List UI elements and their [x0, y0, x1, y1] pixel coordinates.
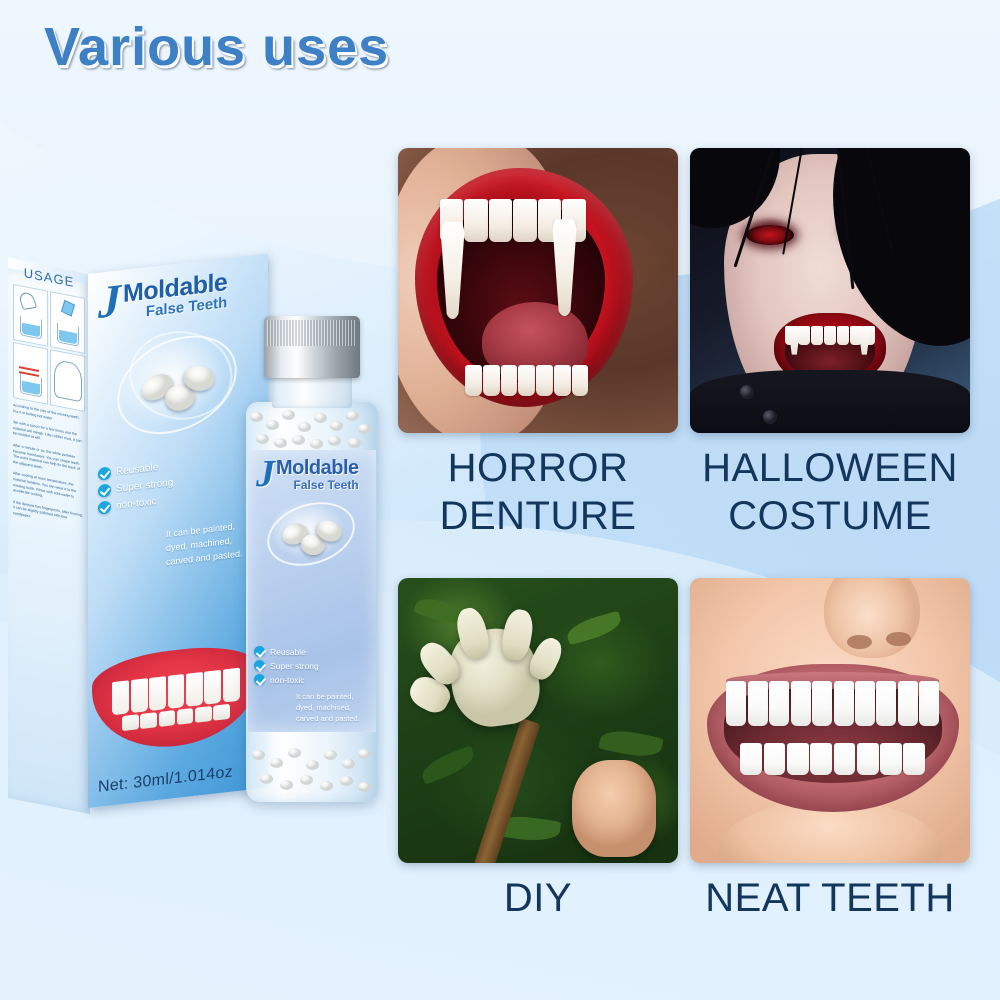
- product-bottle: J Moldable False Teeth Reusable Super st…: [238, 316, 388, 806]
- usage-icon-4: [50, 349, 85, 412]
- feature-label: non-toxic: [116, 496, 157, 512]
- pellet-orb-graphic: [112, 325, 244, 452]
- usage-icon-1: [13, 284, 48, 347]
- caption-horror-denture: HORROR DENTURE: [398, 444, 678, 540]
- page-title: Various uses: [44, 16, 389, 78]
- check-icon: [254, 674, 265, 685]
- box-brand: J Moldable False Teeth: [98, 265, 258, 326]
- feature-label: non-toxic: [270, 675, 305, 685]
- pellets-cluster: [139, 361, 217, 422]
- check-icon: [98, 483, 111, 497]
- usage-icon-3: [13, 342, 48, 405]
- caption-diy: DIY: [398, 874, 678, 922]
- net-weight-label: Net: 30ml/1.014oz: [98, 763, 233, 796]
- bottle-pellet-orb-graphic: [264, 500, 360, 574]
- check-icon: [98, 500, 111, 514]
- pellets-cluster: [282, 518, 342, 558]
- brand-j-logo: J: [98, 280, 121, 323]
- leaf: [598, 726, 663, 761]
- lower-teeth: [740, 743, 925, 774]
- feature-label: Reusable: [270, 647, 306, 657]
- product-box: USAGE According to the size of the missi…: [8, 252, 270, 814]
- smiling-mouth-graphic: [92, 640, 260, 755]
- photo-halloween-costume: [690, 148, 970, 433]
- usage-icon-2: [50, 291, 85, 354]
- photo-neat-teeth: [690, 578, 970, 863]
- bottle-neck: [272, 374, 352, 408]
- upper-teeth: [726, 681, 939, 727]
- bottle-pellets-bottom: [250, 744, 374, 800]
- usage-instructions: According to the size of the missing tee…: [13, 403, 85, 530]
- black-collar: [690, 370, 970, 433]
- leaf: [564, 611, 623, 646]
- feature-item: Reusable: [254, 646, 319, 657]
- vampire-photo: [690, 148, 970, 433]
- bottle-cap: [264, 316, 360, 378]
- brand-j-logo: J: [256, 458, 275, 491]
- lower-teeth-row: [465, 365, 588, 396]
- check-icon: [254, 646, 265, 657]
- smile-photo: [690, 578, 970, 863]
- nose: [824, 578, 919, 658]
- bottle-paint-text: It can be painted, dyed, machined, carve…: [296, 691, 370, 724]
- caption-halloween-costume: HALLOWEEN COSTUME: [690, 444, 970, 540]
- infographic-canvas: Various uses HORROR DENTURE: [0, 0, 1000, 1000]
- bottle-feature-list: Reusable Super strong non-toxic: [254, 646, 319, 688]
- photo-diy: [398, 578, 678, 863]
- photo-horror-denture: [398, 148, 678, 433]
- feature-label: Reusable: [116, 462, 158, 478]
- feature-label: Super strong: [116, 477, 173, 495]
- bottle-product-subtitle: False Teeth: [276, 479, 359, 492]
- usage-step-icons: [13, 284, 85, 412]
- foliage-photo: [398, 578, 678, 863]
- wooden-stick: [471, 717, 541, 863]
- leaf: [419, 745, 478, 784]
- box-feature-list: Reusable Super strong non-toxic: [98, 450, 258, 515]
- check-icon: [98, 466, 111, 480]
- feature-item: non-toxic: [254, 674, 319, 685]
- mouth-photo: [398, 148, 678, 433]
- check-icon: [254, 660, 265, 671]
- bottle-brand: J Moldable False Teeth: [256, 458, 368, 492]
- caption-neat-teeth: NEAT TEETH: [690, 874, 970, 922]
- bottle-pellets-top: [248, 408, 376, 454]
- human-hand: [572, 760, 656, 857]
- bottle-label: J Moldable False Teeth Reusable Super st…: [248, 450, 376, 732]
- bottle-product-name: Moldable: [276, 458, 359, 479]
- feature-item: Super strong: [254, 660, 319, 671]
- feature-label: Super strong: [270, 661, 319, 671]
- box-usage-panel: USAGE According to the size of the missi…: [8, 252, 90, 798]
